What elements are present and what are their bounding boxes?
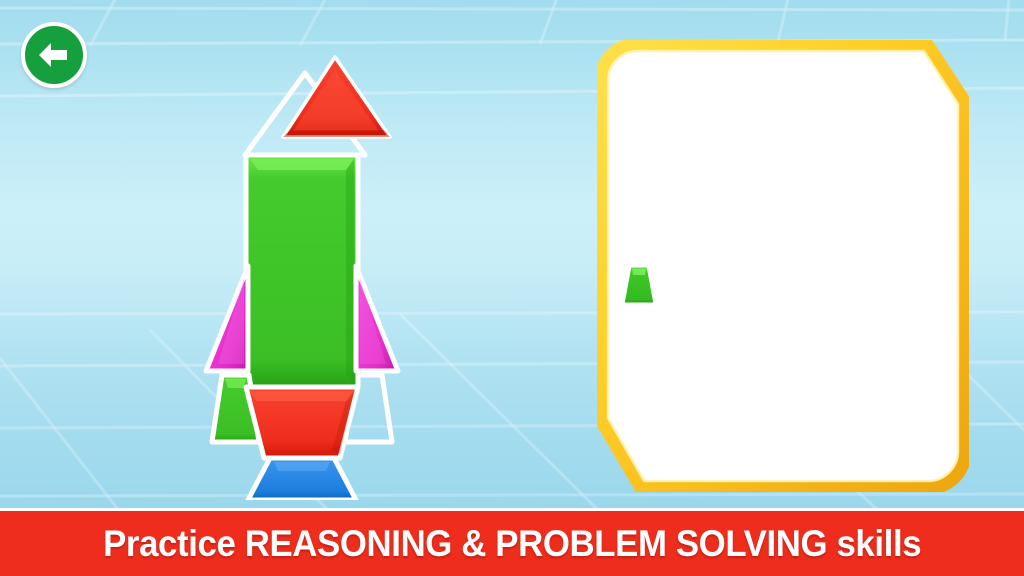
piece-nose-cone-red-triangle [283,57,390,137]
arrow-left-icon [37,40,71,70]
piece-flame-blue-trapezoid [248,458,356,500]
promo-banner: Practice REASONING & PROBLEM SOLVING ski… [0,508,1024,576]
piece-engine-red-trapezoid [246,387,358,458]
rocket-puzzle-board[interactable] [170,30,450,500]
piece-fin-right-magenta-triangle [356,266,398,371]
promo-banner-text: Practice REASONING & PROBLEM SOLVING ski… [103,523,921,565]
tray-piece-green-trapezoid[interactable] [619,262,659,308]
piece-body-green-rectangle [246,155,358,387]
back-button[interactable] [21,22,87,88]
app-screen: Practice REASONING & PROBLEM SOLVING ski… [0,0,1024,576]
piece-fin-left-magenta-triangle [206,266,248,371]
